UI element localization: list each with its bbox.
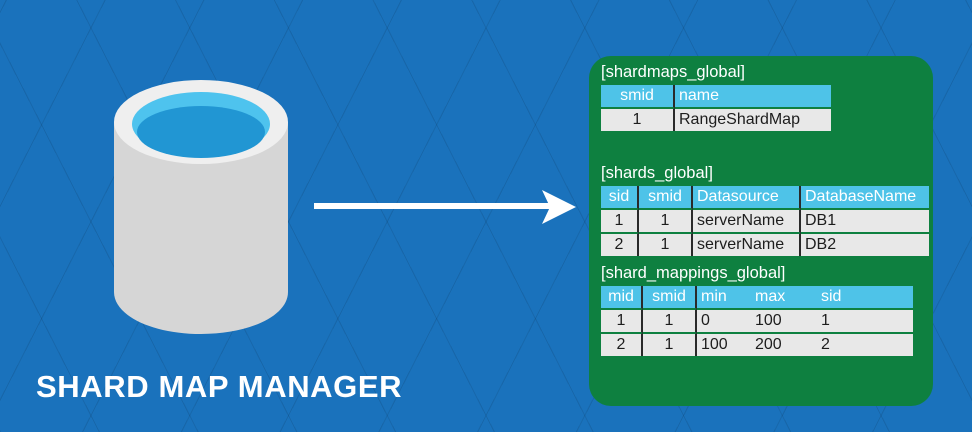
table-header-row: sid smid Datasource DatabaseName <box>601 186 929 209</box>
cell-max: 200 <box>751 333 817 356</box>
column-header-name: name <box>675 85 831 108</box>
cell-max: 100 <box>751 309 817 333</box>
table-header-row: mid smid min max sid <box>601 286 913 309</box>
column-header-databasename: DatabaseName <box>801 186 929 209</box>
cell-smid: 1 <box>643 309 697 333</box>
cell-mid: 1 <box>601 309 643 333</box>
cell-mid: 2 <box>601 333 643 356</box>
shard-mappings-global-table: mid smid min max sid 1 1 0 100 1 <box>601 286 913 356</box>
page-title: SHARD MAP MANAGER <box>36 369 402 405</box>
cell-sid: 2 <box>601 233 639 256</box>
column-header-mid: mid <box>601 286 643 309</box>
table-row: 2 1 100 200 2 <box>601 333 913 356</box>
database-cylinder-icon <box>112 78 290 336</box>
shardmaps-global-table: smid name 1 RangeShardMap <box>601 85 831 131</box>
shards-global-block: [shards_global] sid smid Datasource Data… <box>601 163 929 256</box>
cell-datasource: serverName <box>693 209 801 233</box>
cell-min: 100 <box>697 333 751 356</box>
table-row: 2 1 serverName DB2 <box>601 233 929 256</box>
shardmaps-global-block: [shardmaps_global] smid name 1 RangeShar… <box>601 62 831 131</box>
table-caption-shards: [shards_global] <box>601 163 929 184</box>
cell-datasource: serverName <box>693 233 801 256</box>
table-header-row: smid name <box>601 85 831 108</box>
column-header-sid: sid <box>601 186 639 209</box>
column-header-smid: smid <box>643 286 697 309</box>
table-row: 1 RangeShardMap <box>601 108 831 131</box>
column-header-min: min <box>697 286 751 309</box>
cell-databasename: DB2 <box>801 233 929 256</box>
cell-databasename: DB1 <box>801 209 929 233</box>
column-header-smid: smid <box>639 186 693 209</box>
cell-sid: 1 <box>601 209 639 233</box>
column-header-max: max <box>751 286 817 309</box>
cell-smid: 1 <box>639 209 693 233</box>
cell-smid: 1 <box>643 333 697 356</box>
cell-name: RangeShardMap <box>675 108 831 131</box>
column-header-sid: sid <box>817 286 913 309</box>
cell-smid: 1 <box>601 108 675 131</box>
table-caption-shardmaps: [shardmaps_global] <box>601 62 831 83</box>
right-arrow-icon <box>314 186 576 228</box>
table-caption-shard-mappings: [shard_mappings_global] <box>601 263 913 284</box>
table-row: 1 1 serverName DB1 <box>601 209 929 233</box>
diagram-canvas: [shardmaps_global] smid name 1 RangeShar… <box>0 0 972 432</box>
cell-sid: 2 <box>817 333 913 356</box>
table-row: 1 1 0 100 1 <box>601 309 913 333</box>
global-shard-map-metadata-panel: [shardmaps_global] smid name 1 RangeShar… <box>589 56 933 406</box>
cell-min: 0 <box>697 309 751 333</box>
column-header-smid: smid <box>601 85 675 108</box>
column-header-datasource: Datasource <box>693 186 801 209</box>
cell-sid: 1 <box>817 309 913 333</box>
shards-global-table: sid smid Datasource DatabaseName 1 1 ser… <box>601 186 929 256</box>
shard-mappings-global-block: [shard_mappings_global] mid smid min max… <box>601 263 913 356</box>
cell-smid: 1 <box>639 233 693 256</box>
